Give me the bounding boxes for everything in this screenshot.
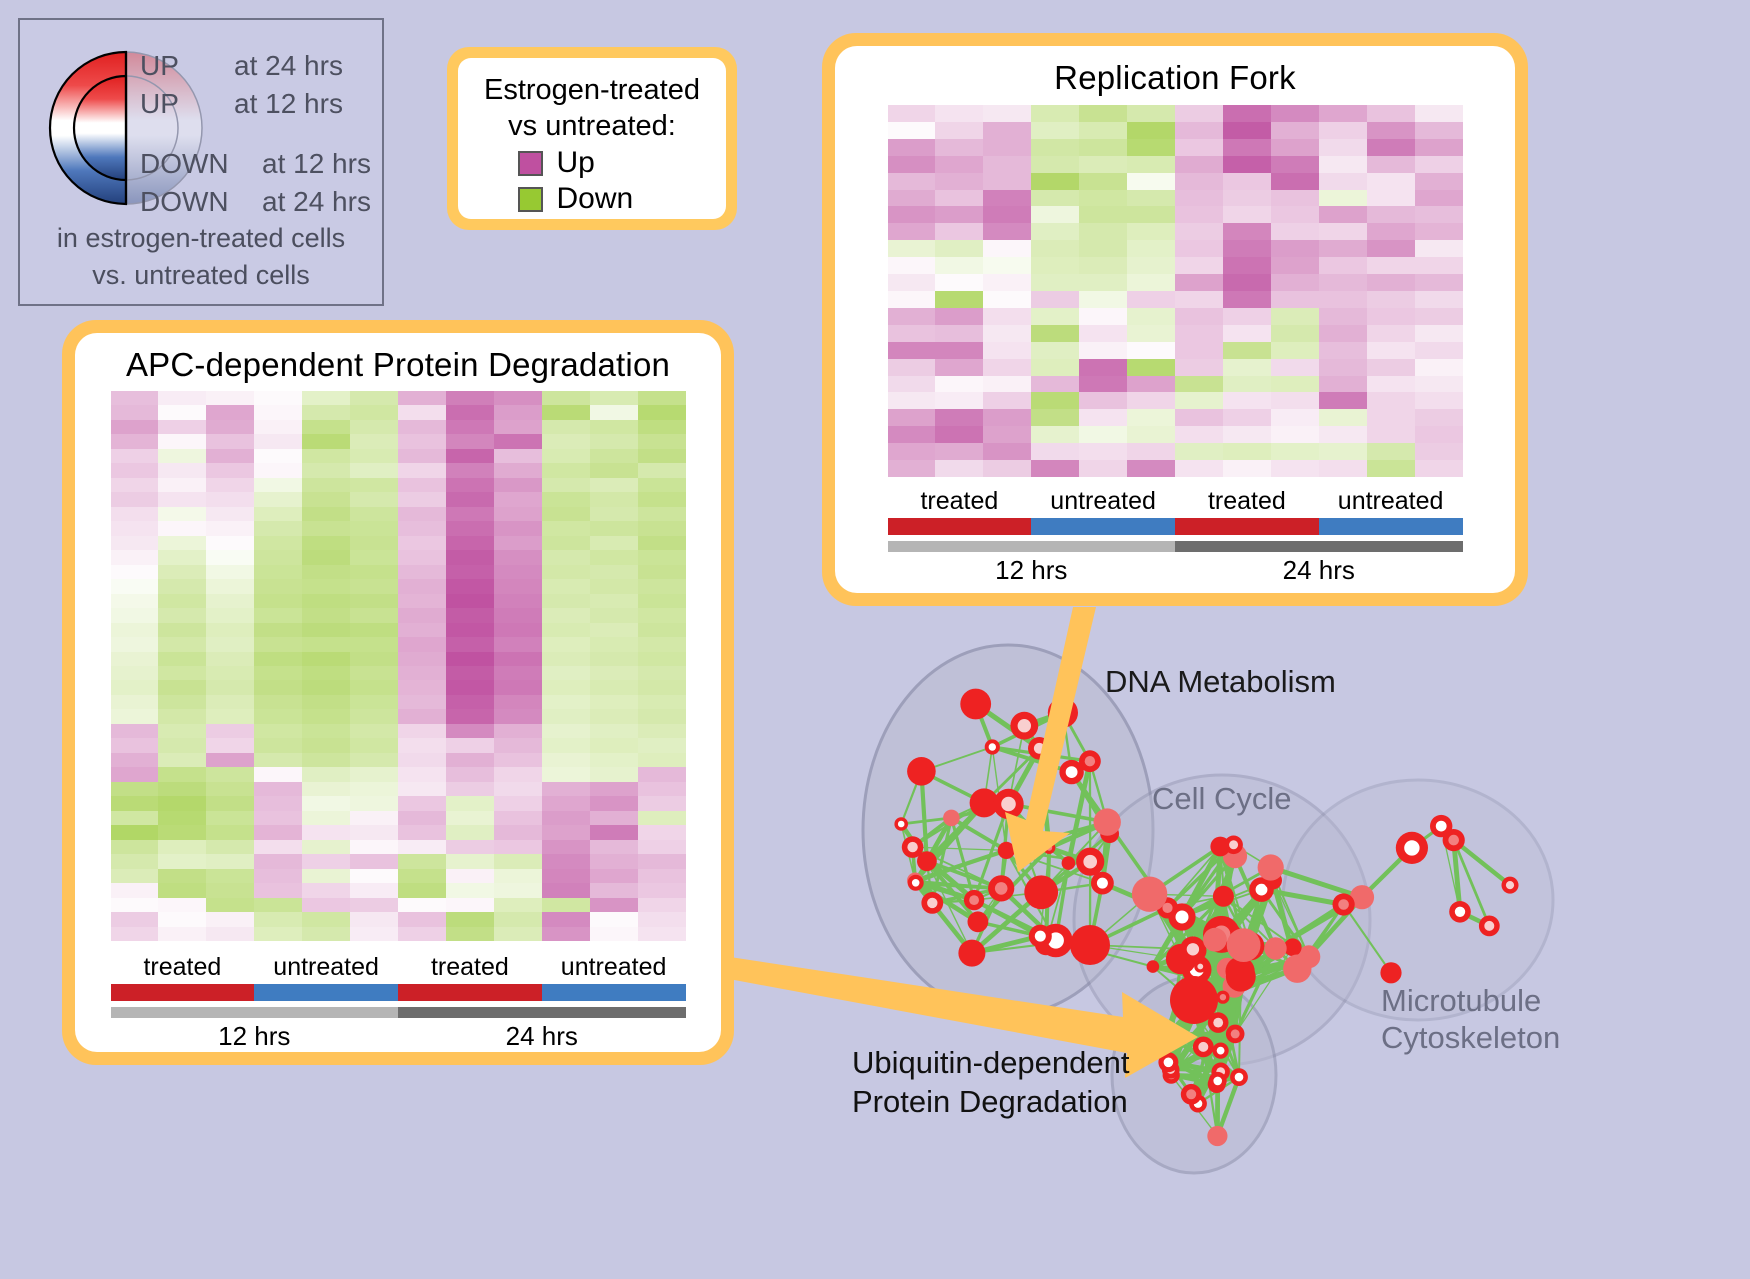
heatmap-cell: [398, 854, 446, 868]
heatmap-cell: [254, 825, 302, 839]
heatmap-cell: [111, 536, 159, 550]
heatmap-cell: [1271, 342, 1319, 359]
heatmap-cell: [350, 550, 398, 564]
heatmap-apc: [111, 391, 686, 941]
colorbar-state-0: UP: [140, 50, 179, 82]
heatmap-cell: [494, 767, 542, 781]
network-node[interactable]: [1258, 854, 1284, 880]
heatmap-cell: [638, 782, 686, 796]
network-node[interactable]: [907, 757, 936, 786]
heatmap-cell: [302, 811, 350, 825]
heatmap-cell: [1127, 359, 1175, 376]
heatmap-cell: [398, 666, 446, 680]
heatmap-cell: [1367, 173, 1415, 190]
network-node-core: [1217, 1047, 1225, 1055]
network-node[interactable]: [943, 810, 960, 827]
heatmap-cell: [302, 594, 350, 608]
network-node-core: [898, 821, 905, 828]
heatmap-cell: [542, 652, 590, 666]
heatmap-cell: [1415, 173, 1463, 190]
heatmap-cell: [1175, 359, 1223, 376]
heatmap-cell: [590, 521, 638, 535]
network-node[interactable]: [1207, 1126, 1227, 1146]
heatmap-cell: [158, 420, 206, 434]
heatmap-cell: [206, 854, 254, 868]
heatmap-cell: [1175, 274, 1223, 291]
network-node-core: [1198, 1042, 1208, 1052]
heatmap-cell: [638, 796, 686, 810]
heatmap-cell: [1319, 443, 1367, 460]
heatmap-cell: [1367, 139, 1415, 156]
heatmap-cell: [302, 536, 350, 550]
heatmap-cell: [206, 565, 254, 579]
heatmap-cell: [302, 449, 350, 463]
heatmap-cell: [1175, 460, 1223, 477]
heatmap-cell: [446, 883, 494, 897]
heatmap-cell: [638, 449, 686, 463]
heatmap-cell: [1271, 376, 1319, 393]
heatmap-cell: [446, 565, 494, 579]
time-bar-rf-24: [1175, 541, 1463, 552]
heatmap-cell: [1175, 156, 1223, 173]
heatmap-cell: [446, 391, 494, 405]
heatmap-cell: [302, 652, 350, 666]
heatmap-cell: [111, 825, 159, 839]
heatmap-cell: [1319, 190, 1367, 207]
heatmap-cell: [1079, 156, 1127, 173]
heatmap-cell: [1415, 190, 1463, 207]
heatmap-cell: [1319, 426, 1367, 443]
heatmap-cell: [542, 405, 590, 419]
heatmap-cell: [638, 854, 686, 868]
colorbar-time-0: at 24 hrs: [234, 50, 343, 82]
heatmap-cell: [302, 724, 350, 738]
heatmap-cell: [590, 565, 638, 579]
heatmap-cell: [590, 536, 638, 550]
heatmap-cell: [590, 753, 638, 767]
heatmap-cell: [1127, 426, 1175, 443]
colorbar-time-3: at 24 hrs: [262, 186, 371, 218]
figure-canvas: UP at 24 hrs UP at 12 hrs DOWN at 12 hrs…: [0, 0, 1750, 1279]
network-node[interactable]: [1264, 937, 1286, 959]
heatmap-cell: [206, 753, 254, 767]
heatmap-cell: [158, 507, 206, 521]
heatmap-cell: [542, 767, 590, 781]
heatmap-cell: [1415, 122, 1463, 139]
heatmap-cell: [206, 680, 254, 694]
heatmap-cell: [302, 753, 350, 767]
heatmap-cell: [590, 767, 638, 781]
heatmap-cell: [302, 623, 350, 637]
heatmap-cell: [111, 811, 159, 825]
heatmap-cell: [158, 709, 206, 723]
network-node[interactable]: [1048, 698, 1078, 728]
heatmap-cell: [542, 927, 590, 941]
heatmap-cell: [542, 594, 590, 608]
heatmap-cell: [1271, 156, 1319, 173]
network-node[interactable]: [1283, 955, 1311, 983]
group-bar-apc-3: [542, 984, 686, 1001]
heatmap-cell: [350, 680, 398, 694]
heatmap-cell: [1079, 274, 1127, 291]
heatmap-cell: [888, 257, 936, 274]
heatmap-cell: [494, 927, 542, 941]
network-node[interactable]: [1024, 875, 1058, 909]
heatmap-cell: [1031, 359, 1079, 376]
heatmap-cell: [254, 782, 302, 796]
heatmap-cell: [1223, 291, 1271, 308]
heatmap-cell: [983, 173, 1031, 190]
heatmap-cell: [1175, 308, 1223, 325]
heatmap-cell: [1079, 173, 1127, 190]
network-node[interactable]: [998, 842, 1015, 859]
heatmap-cell: [350, 594, 398, 608]
heatmap-cell: [254, 565, 302, 579]
heatmap-cell: [1175, 257, 1223, 274]
heatmap-cell: [1031, 206, 1079, 223]
heatmap-cell: [542, 825, 590, 839]
heatmap-cell: [494, 652, 542, 666]
heatmap-cell: [494, 724, 542, 738]
heatmap-cell: [206, 652, 254, 666]
heatmap-cell: [542, 579, 590, 593]
heatmap-cell: [1031, 426, 1079, 443]
heatmap-cell: [446, 521, 494, 535]
heatmap-cell: [350, 869, 398, 883]
heatmap-cell: [638, 536, 686, 550]
network-node[interactable]: [968, 911, 989, 932]
network-node-core: [1018, 719, 1031, 732]
heatmap-cell: [590, 594, 638, 608]
heatmap-cell: [888, 359, 936, 376]
network-node-core: [1187, 943, 1199, 955]
heatmap-cell: [254, 521, 302, 535]
heatmap-cell: [1079, 392, 1127, 409]
heatmap-cell: [590, 738, 638, 752]
network-node[interactable]: [960, 689, 991, 720]
heatmap-cell: [302, 709, 350, 723]
heatmap-cell: [494, 680, 542, 694]
heatmap-cell: [1415, 139, 1463, 156]
colorbar-time-1: at 12 hrs: [234, 88, 343, 120]
heatmap-cell: [398, 869, 446, 883]
heatmap-cell: [302, 550, 350, 564]
heatmap-cell: [206, 623, 254, 637]
network-node[interactable]: [1147, 960, 1160, 973]
heatmap-cell: [398, 478, 446, 492]
pathway-network-diagram: [790, 600, 1750, 1279]
colorbar-caption-line2: vs. untreated cells: [20, 257, 382, 294]
heatmap-cell: [1127, 257, 1175, 274]
group-label-apc-2: treated: [398, 953, 542, 982]
heatmap-cell: [398, 709, 446, 723]
heatmap-cell: [111, 420, 159, 434]
heatmap-cell: [1079, 190, 1127, 207]
network-node-core: [1164, 1058, 1174, 1068]
heatmap-cell: [111, 927, 159, 941]
heatmap-cell: [935, 156, 983, 173]
heatmap-cell: [111, 796, 159, 810]
network-node[interactable]: [1226, 962, 1256, 992]
heatmap-cell: [1319, 291, 1367, 308]
heatmap-cell: [638, 666, 686, 680]
heatmap-cell: [111, 521, 159, 535]
heatmap-cell: [542, 521, 590, 535]
heatmap-cell: [254, 738, 302, 752]
heatmap-cell: [542, 536, 590, 550]
heatmap-cell: [302, 666, 350, 680]
time-label-apc-12: 12 hrs: [111, 1021, 399, 1052]
heatmap-cell: [638, 391, 686, 405]
heatmap-cell: [1415, 443, 1463, 460]
heatmap-cell: [158, 898, 206, 912]
heatmap-cell: [206, 709, 254, 723]
group-label-apc-3: untreated: [542, 953, 686, 982]
heatmap-cell: [111, 680, 159, 694]
heatmap-cell: [206, 825, 254, 839]
heatmap-cell: [888, 392, 936, 409]
heatmap-cell: [1271, 139, 1319, 156]
heatmap-cell: [1415, 392, 1463, 409]
heatmap-cell: [398, 927, 446, 941]
heatmap-cell: [494, 738, 542, 752]
heatmap-cell: [1319, 274, 1367, 291]
heatmap-cell: [254, 869, 302, 883]
heatmap-cell: [983, 257, 1031, 274]
network-node-core: [1066, 766, 1078, 778]
heatmap-cell: [1319, 359, 1367, 376]
heatmap-cell: [206, 811, 254, 825]
heatmap-cell: [935, 122, 983, 139]
heatmap-cell: [254, 391, 302, 405]
network-node-core: [1176, 911, 1189, 924]
heatmap-cell: [206, 507, 254, 521]
heatmap-cell: [1223, 426, 1271, 443]
heatmap-cell: [398, 898, 446, 912]
heatmap-cell: [1175, 376, 1223, 393]
heatmap-cell: [638, 840, 686, 854]
heatmap-cell: [888, 426, 936, 443]
network-node[interactable]: [1170, 976, 1218, 1024]
heatmap-cell: [590, 680, 638, 694]
heatmap-cell: [350, 536, 398, 550]
heatmap-cell: [1271, 409, 1319, 426]
network-node-core: [1186, 1089, 1196, 1099]
heatmap-cell: [494, 883, 542, 897]
heatmap-cell: [302, 405, 350, 419]
heatmap-cell: [935, 443, 983, 460]
heatmap-cell: [398, 449, 446, 463]
heatmap-cell: [350, 434, 398, 448]
heatmap-cell: [494, 594, 542, 608]
heatmap-cell: [983, 240, 1031, 257]
heatmap-cell: [638, 898, 686, 912]
heatmap-cell: [1271, 291, 1319, 308]
heatmap-cell: [158, 463, 206, 477]
heatmap-cell: [398, 695, 446, 709]
heatmap-cell: [111, 594, 159, 608]
heatmap-cell: [1175, 105, 1223, 122]
heatmap-cell: [983, 291, 1031, 308]
heatmap-cell: [1223, 460, 1271, 477]
heatmap-cell: [206, 666, 254, 680]
group-label-rf-3: untreated: [1319, 487, 1463, 516]
heatmap-cell: [590, 695, 638, 709]
heatmap-cell: [1079, 206, 1127, 223]
heatmap-cell: [542, 738, 590, 752]
heatmap-cell: [1031, 325, 1079, 342]
heatmap-cell: [446, 652, 494, 666]
heatmap-cell: [1319, 409, 1367, 426]
heatmap-cell: [206, 898, 254, 912]
network-node[interactable]: [1380, 962, 1401, 983]
heatmap-cell: [350, 666, 398, 680]
heatmap-cell: [1367, 223, 1415, 240]
heatmap-cell: [254, 623, 302, 637]
heatmap-cell: [446, 463, 494, 477]
heatmap-cell: [398, 637, 446, 651]
heatmap-cell: [350, 927, 398, 941]
heatmap-cell: [542, 492, 590, 506]
heatmap-cell: [446, 608, 494, 622]
heatmap-cell: [1127, 105, 1175, 122]
heatmap-cell: [494, 391, 542, 405]
heatmap-cell: [254, 652, 302, 666]
heatmap-cell: [638, 680, 686, 694]
network-node[interactable]: [1094, 808, 1121, 835]
heatmap-cell: [206, 637, 254, 651]
axis-group-bars-apc: [111, 984, 686, 1001]
heatmap-cell: [494, 695, 542, 709]
heatmap-cell: [111, 550, 159, 564]
heatmap-cell: [111, 753, 159, 767]
heatmap-cell: [1415, 359, 1463, 376]
heatmap-cell: [158, 811, 206, 825]
heatmap-cell: [983, 105, 1031, 122]
heatmap-cell: [206, 796, 254, 810]
heatmap-cell: [494, 825, 542, 839]
heatmap-cell: [888, 325, 936, 342]
heatmap-cell: [1223, 156, 1271, 173]
heatmap-cell: [542, 883, 590, 897]
heatmap-cell: [1031, 460, 1079, 477]
heatmap-cell: [206, 840, 254, 854]
heatmap-cell: [638, 637, 686, 651]
network-node[interactable]: [958, 940, 985, 967]
heatmap-cell: [1271, 274, 1319, 291]
network-node[interactable]: [1132, 877, 1167, 912]
heatmap-cell: [206, 608, 254, 622]
heatmap-cell: [888, 376, 936, 393]
heatmap-cell: [158, 695, 206, 709]
network-node[interactable]: [1070, 925, 1110, 965]
cluster-label-ubiquitin-degradation: Ubiquitin-dependent Protein Degradation: [852, 1043, 1130, 1121]
network-node-core: [989, 743, 996, 750]
heatmap-cell: [446, 898, 494, 912]
heatmap-cell: [1175, 206, 1223, 223]
cluster-label-cell-cycle: Cell Cycle: [1152, 781, 1292, 817]
heatmap-cell: [206, 927, 254, 941]
network-node-core: [1484, 921, 1494, 931]
colorbar-state-3: DOWN: [140, 186, 229, 218]
heatmap-cell: [446, 666, 494, 680]
heatmap-cell: [983, 460, 1031, 477]
heatmap-cell: [350, 782, 398, 796]
heatmap-cell: [302, 840, 350, 854]
heatmap-cell: [1223, 392, 1271, 409]
heatmap-cell: [983, 443, 1031, 460]
heatmap-cell: [935, 257, 983, 274]
panel-title-apc: APC-dependent Protein Degradation: [126, 346, 670, 384]
heatmap-cell: [1415, 206, 1463, 223]
heatmap-cell: [446, 753, 494, 767]
heatmap-cell: [254, 709, 302, 723]
heatmap-cell: [638, 594, 686, 608]
heatmap-cell: [590, 449, 638, 463]
colorbar-caption-line1: in estrogen-treated cells: [20, 220, 382, 257]
network-node[interactable]: [1227, 928, 1261, 962]
heatmap-cell: [350, 405, 398, 419]
network-node[interactable]: [1203, 928, 1227, 952]
heatmap-cell: [638, 550, 686, 564]
heatmap-cell: [206, 782, 254, 796]
heatmap-cell: [446, 869, 494, 883]
heatmap-cell: [1271, 460, 1319, 477]
heatmap-cell: [1079, 460, 1127, 477]
group-bar-apc-1: [254, 984, 398, 1001]
heatmap-cell: [1319, 240, 1367, 257]
heatmap-cell: [111, 912, 159, 926]
heatmap-cell: [494, 521, 542, 535]
heatmap-cell: [1127, 376, 1175, 393]
heatmap-cell: [206, 391, 254, 405]
heatmap-cell: [638, 825, 686, 839]
heatmap-cell: [1367, 274, 1415, 291]
heatmap-cell: [111, 449, 159, 463]
heatmap-cell: [206, 883, 254, 897]
heatmap-cell: [350, 608, 398, 622]
heatmap-cell: [1367, 291, 1415, 308]
heatmap-cell: [1031, 376, 1079, 393]
network-node-core: [1231, 1029, 1240, 1038]
heatmap-cell: [638, 623, 686, 637]
heatmap-cell: [398, 492, 446, 506]
heatmap-cell: [350, 811, 398, 825]
heatmap-cell: [254, 680, 302, 694]
group-bar-apc-2: [398, 984, 542, 1001]
heatmap-cell: [1031, 392, 1079, 409]
heatmap-cell: [1031, 240, 1079, 257]
heatmap-cell: [542, 709, 590, 723]
heatmap-cell: [446, 767, 494, 781]
heatmap-cell: [254, 550, 302, 564]
heatmap-cell: [542, 840, 590, 854]
heatmap-cell: [1415, 240, 1463, 257]
heatmap-cell: [542, 695, 590, 709]
heatmap-cell: [1175, 392, 1223, 409]
heatmap-cell: [254, 478, 302, 492]
network-node[interactable]: [1062, 856, 1076, 870]
heatmap-cell: [935, 274, 983, 291]
heatmap-cell: [1223, 274, 1271, 291]
heatmap-cell: [254, 912, 302, 926]
heatmap-cell: [206, 463, 254, 477]
heatmap-cell: [254, 507, 302, 521]
heatmap-cell: [1175, 173, 1223, 190]
heatmap-cell: [888, 240, 936, 257]
legend-label-up: Up: [557, 146, 667, 180]
network-node[interactable]: [1213, 886, 1234, 907]
